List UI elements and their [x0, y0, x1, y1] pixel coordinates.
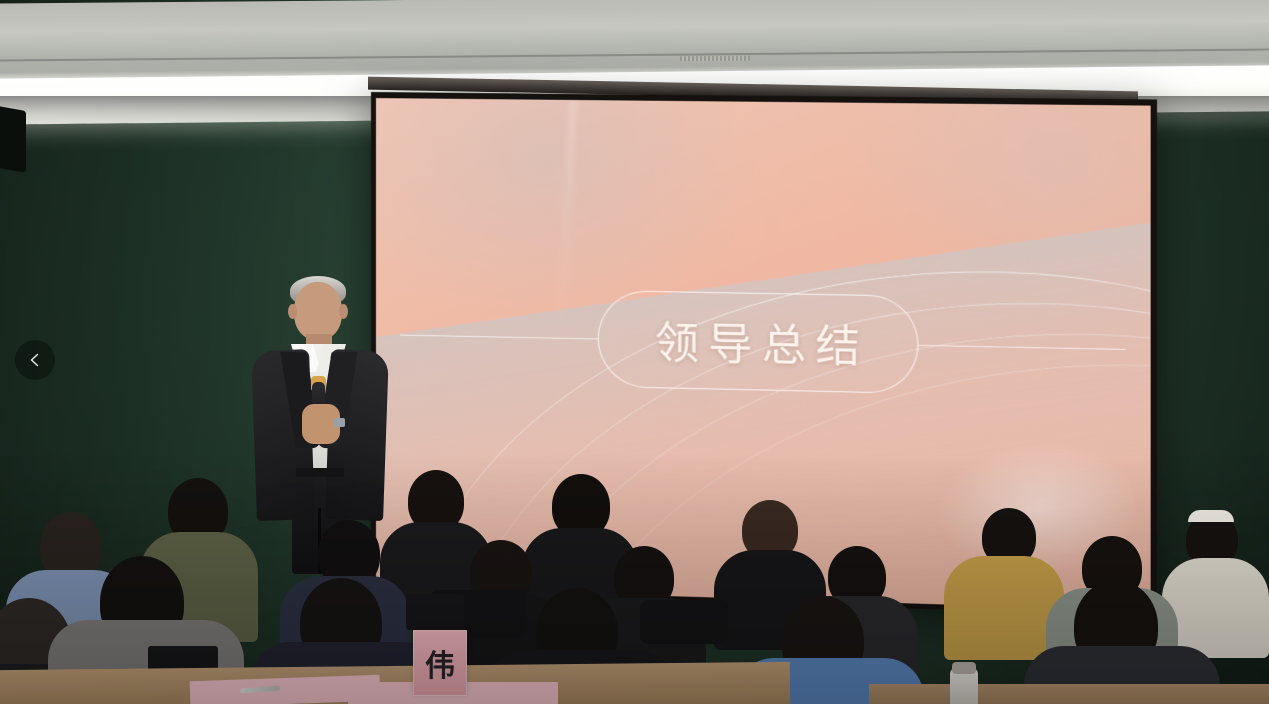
audience-table-right — [869, 684, 1269, 704]
ceiling-vent-icon — [680, 56, 750, 61]
name-placard: 伟 — [413, 630, 467, 696]
slide-title-row: 领导总结 — [376, 286, 1151, 399]
previous-button[interactable] — [15, 340, 55, 380]
screenshot-stage: 领导总结 — [0, 0, 1269, 704]
presenter-belt — [296, 468, 344, 477]
presenter-ear-left — [288, 304, 297, 319]
audience-headband — [1188, 510, 1234, 522]
presenter-watch — [334, 418, 345, 427]
presenter-head — [294, 282, 342, 340]
bottle-cap — [952, 662, 976, 674]
chevron-left-icon — [27, 352, 43, 368]
slide-title: 领导总结 — [598, 290, 919, 394]
laptop — [406, 594, 464, 630]
slide-rule-right — [918, 345, 1125, 350]
presenter-ear-right — [339, 304, 348, 319]
chair-back — [640, 600, 728, 644]
slide-rule-left — [400, 334, 598, 339]
audience-body — [1162, 558, 1269, 658]
wall-speaker-icon — [0, 105, 26, 173]
